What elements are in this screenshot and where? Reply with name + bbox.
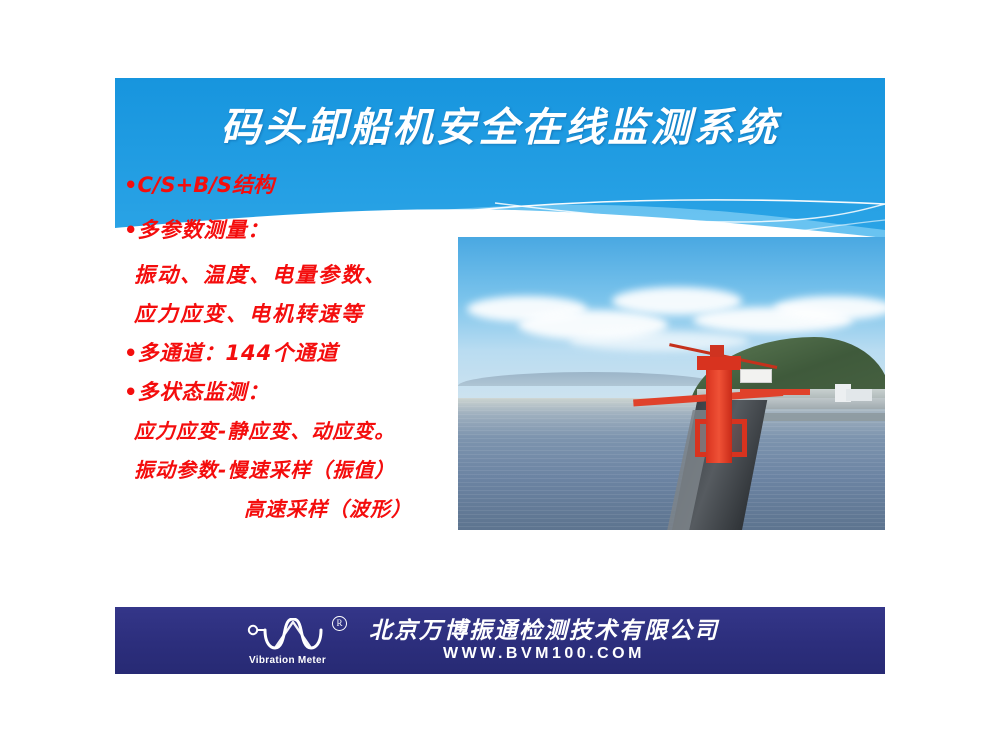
crane-top-cab bbox=[710, 345, 724, 357]
logo-subtitle: Vibration Meter bbox=[249, 655, 326, 666]
bullet-item: 振动、温度、电量参数、 bbox=[124, 256, 484, 295]
bullet-text: 多通道：144个通道 bbox=[137, 341, 338, 365]
company-name: 北京万博振通检测技术有限公司 bbox=[369, 618, 719, 644]
crane-head bbox=[697, 356, 741, 370]
registered-trademark-icon: R bbox=[332, 616, 347, 631]
bullet-text: 多参数测量： bbox=[137, 218, 269, 242]
wave-logo-icon bbox=[245, 618, 341, 652]
bullet-item: 高速采样（波形） bbox=[124, 490, 484, 529]
slide: 码头卸船机安全在线监测系统 •C/S+B/S结构 •多参数测量： 振动、温度、电… bbox=[0, 0, 1000, 750]
bullet-item: •C/S+B/S结构 bbox=[124, 166, 484, 204]
slide-title: 码头卸船机安全在线监测系统 bbox=[115, 106, 885, 150]
crane-boom bbox=[740, 389, 810, 395]
bullet-list: •C/S+B/S结构 •多参数测量： 振动、温度、电量参数、 应力应变、电机转速… bbox=[124, 166, 484, 529]
company-website[interactable]: WWW.BVM100.COM bbox=[443, 644, 645, 664]
bullet-item: •多参数测量： bbox=[124, 204, 484, 256]
crane-photo bbox=[458, 237, 885, 530]
footer-text-block: 北京万博振通检测技术有限公司 WWW.BVM100.COM bbox=[369, 618, 719, 664]
bullet-text: 振动参数-慢速采样（振值） bbox=[134, 458, 395, 482]
cloud-shape bbox=[774, 296, 885, 320]
bullet-text: 高速采样（波形） bbox=[244, 497, 412, 521]
bullet-text: 多状态监测： bbox=[137, 380, 269, 404]
bullet-text: 应力应变、电机转速等 bbox=[134, 302, 364, 326]
crane-sign bbox=[740, 369, 772, 383]
bullet-marker: • bbox=[124, 173, 137, 197]
bullet-marker: • bbox=[124, 218, 137, 242]
bullet-marker: • bbox=[124, 341, 137, 365]
bullet-item: 振动参数-慢速采样（振值） bbox=[124, 451, 484, 490]
bullet-item: •多状态监测： bbox=[124, 373, 484, 412]
bullet-item: •多通道：144个通道 bbox=[124, 334, 484, 373]
bullet-text: 应力应变-静应变、动应变。 bbox=[134, 419, 395, 443]
crane-mast bbox=[706, 363, 732, 463]
bullet-text: C/S+B/S结构 bbox=[137, 173, 274, 197]
shore-building bbox=[846, 389, 872, 401]
vibration-meter-logo: R Vibration Meter bbox=[245, 616, 353, 666]
bullet-marker: • bbox=[124, 380, 137, 404]
bullet-text: 振动、温度、电量参数、 bbox=[134, 263, 387, 287]
footer-band: R Vibration Meter 北京万博振通检测技术有限公司 WWW.BVM… bbox=[115, 607, 885, 674]
bullet-item: 应力应变-静应变、动应变。 bbox=[124, 412, 484, 451]
footer-content: R Vibration Meter 北京万博振通检测技术有限公司 WWW.BVM… bbox=[245, 616, 719, 666]
bullet-item: 应力应变、电机转速等 bbox=[124, 295, 484, 334]
